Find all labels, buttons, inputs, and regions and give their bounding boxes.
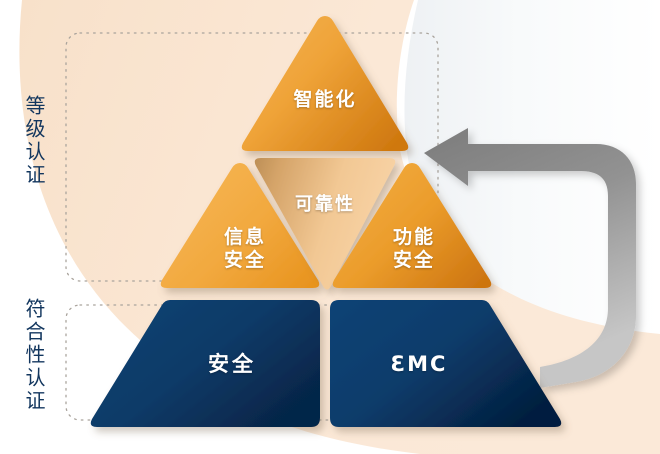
diagram-canvas: 等级认证 符合性认证 智能化 信息 安全 可靠性 功能 安全 安全 ƐMC bbox=[0, 0, 660, 454]
block-label-infosec: 信息 安全 bbox=[224, 226, 266, 272]
block-label-reliability: 可靠性 bbox=[295, 194, 355, 216]
pyramid-block-safety[interactable] bbox=[91, 300, 320, 427]
pyramid-block-top[interactable] bbox=[242, 16, 408, 151]
pyramid-layer bbox=[0, 0, 660, 454]
side-label-compliance: 符合性认证 bbox=[24, 298, 44, 413]
block-label-top: 智能化 bbox=[293, 88, 356, 111]
block-label-safety: 安全 bbox=[208, 352, 256, 378]
side-label-grade: 等级认证 bbox=[24, 95, 44, 187]
block-label-emc: ƐMC bbox=[391, 352, 448, 378]
block-label-funcsafe: 功能 安全 bbox=[393, 226, 435, 272]
